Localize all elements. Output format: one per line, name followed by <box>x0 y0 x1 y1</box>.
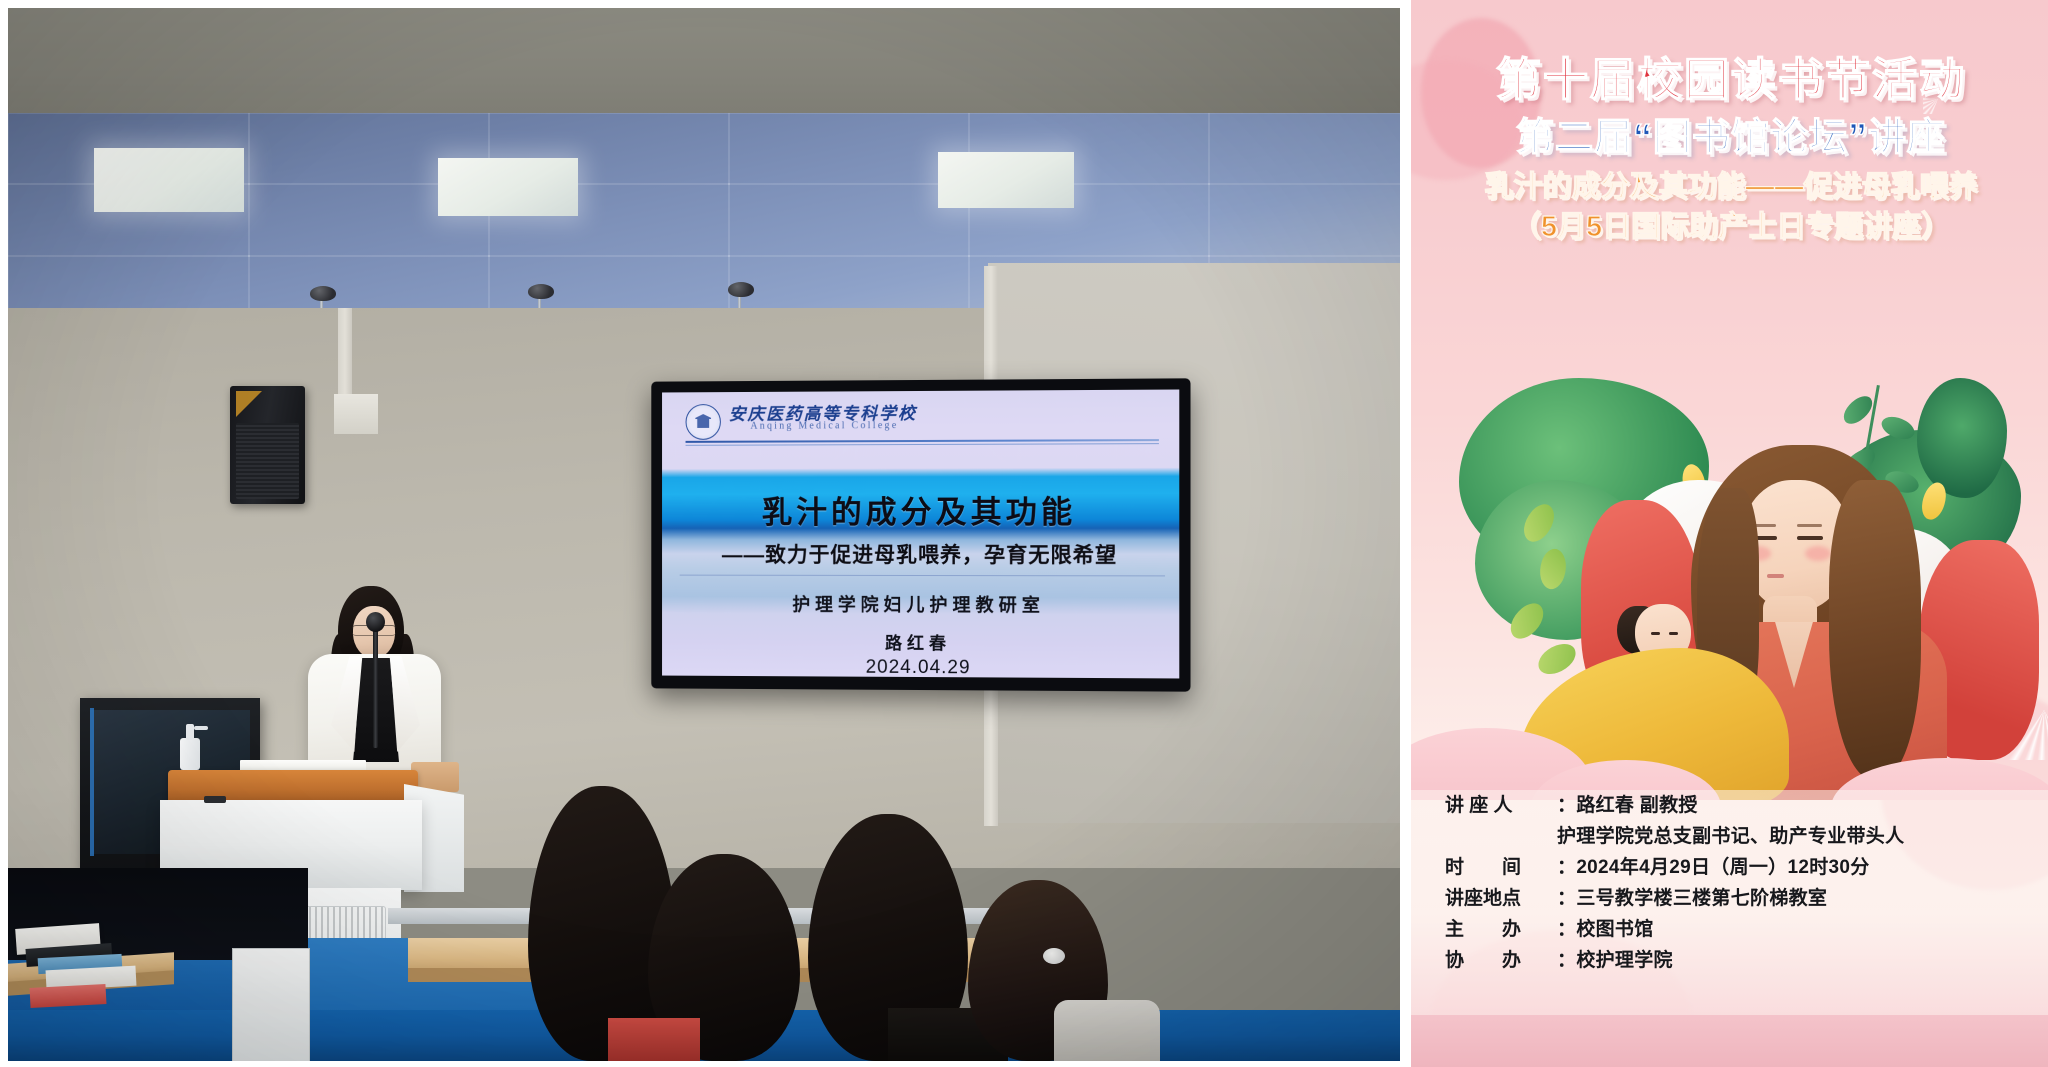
info-row-speaker: 讲 座 人 ： 路红春 副教授 <box>1411 790 2048 817</box>
ceiling-tile <box>1208 113 1400 185</box>
speaker-corner-badge-icon <box>236 391 262 417</box>
info-value: 三号教学楼三楼第七阶梯教室 <box>1576 883 1827 910</box>
info-colon: ： <box>1557 852 1576 879</box>
info-label: 主 办 <box>1445 914 1557 941</box>
sanitizer-pump-icon <box>186 724 194 740</box>
info-row-organizer: 主 办 ： 校图书馆 <box>1411 914 2048 941</box>
green-foliage-shape <box>1917 378 2007 498</box>
info-label: 讲 座 人 <box>1445 790 1557 817</box>
microphone-icon <box>366 612 385 632</box>
info-value: 校护理学院 <box>1576 945 1673 972</box>
ceiling-tile <box>728 183 970 257</box>
screenshot-root: 安庆医药高等专科学校 Anqing Medical College 乳汁的成分及… <box>0 0 2048 1067</box>
presentation-screen: 安庆医药高等专科学校 Anqing Medical College 乳汁的成分及… <box>651 378 1190 691</box>
info-row-venue: 讲座地点 ： 三号教学楼三楼第七阶梯教室 <box>1411 883 2048 910</box>
ceiling-tile <box>1208 183 1400 257</box>
poster-title-line-2: 第二届“图书馆论坛”讲座 <box>1411 118 2048 158</box>
school-crest-icon <box>686 404 721 440</box>
info-colon: ： <box>1557 945 1576 972</box>
slide-title: 乳汁的成分及其功能 <box>662 486 1179 532</box>
poster-illustration <box>1411 360 2048 800</box>
poster-title-block: 第十届校园读书节活动 第二届“图书馆论坛”讲座 乳汁的成分及其功能——促进母乳喂… <box>1411 56 2048 244</box>
poster-info-panel: 讲 座 人 ： 路红春 副教授 护理学院党总支副书记、助产专业带头人 时 间 ：… <box>1411 790 2048 1015</box>
slide-department: 护理学院妇儿护理教研室 <box>662 590 1179 617</box>
baby-eye <box>1669 632 1678 635</box>
ceiling-tile <box>728 113 970 185</box>
microphone-stand <box>373 620 378 748</box>
slide-header-rule-secondary <box>686 443 1159 446</box>
info-colon: ： <box>1557 883 1576 910</box>
info-label: 讲座地点 <box>1445 883 1557 910</box>
info-colon: ： <box>1557 790 1576 817</box>
slide-date: 2024.04.29 <box>662 656 1179 679</box>
white-palm-leaf-icon <box>1943 660 2048 760</box>
sanitizer-nozzle-icon <box>194 726 208 730</box>
hair-tie-icon <box>1043 948 1065 964</box>
rack-edge-accent <box>90 708 94 856</box>
slide-header-rule <box>686 439 1159 443</box>
poster-footer-band <box>1411 1015 2048 1067</box>
poster-title-line-3: 乳汁的成分及其功能——促进母乳喂养 <box>1411 172 2048 204</box>
ceiling-dome-speaker-icon <box>310 286 336 301</box>
book-stack-item <box>30 984 107 1008</box>
info-value: 2024年4月29日（周一）12时30分 <box>1576 852 1869 879</box>
ceiling-surface <box>8 8 1400 118</box>
lecture-hall-photo: 安庆医药高等专科学校 Anqing Medical College 乳汁的成分及… <box>8 8 1400 1061</box>
baby-eye <box>1651 632 1660 635</box>
slide-subtitle: ——致力于促进母乳喂养，孕育无限希望 <box>662 539 1179 569</box>
info-value: 校图书馆 <box>1576 914 1653 941</box>
mother-hair-front <box>1829 480 1921 780</box>
ceiling-dome-speaker-icon <box>528 284 554 299</box>
audience-clothing <box>1054 1000 1160 1061</box>
info-row-co-organizer: 协 办 ： 校护理学院 <box>1411 945 2048 972</box>
mother-cheek-blush <box>1805 546 1831 561</box>
poster-title-line-4: （5月5日国际助产士日专题讲座） <box>1411 212 2048 244</box>
info-row-time: 时 间 ： 2024年4月29日（周一）12时30分 <box>1411 852 2048 879</box>
slide-content: 安庆医药高等专科学校 Anqing Medical College 乳汁的成分及… <box>662 389 1179 678</box>
event-poster: 第十届校园读书节活动 第二届“图书馆论坛”讲座 乳汁的成分及其功能——促进母乳喂… <box>1408 0 2048 1067</box>
info-label: 协 办 <box>1445 945 1557 972</box>
slide-divider <box>680 575 1165 577</box>
ceiling-dome-speaker-icon <box>728 282 754 297</box>
school-name-en: Anqing Medical College <box>750 420 898 432</box>
ceiling-light-panel <box>938 152 1074 208</box>
leaf-icon <box>1534 640 1580 678</box>
podium-control-strip <box>204 796 226 803</box>
side-cabinet <box>232 948 310 1061</box>
mother-eye <box>1797 536 1823 540</box>
speaker-grill <box>236 423 299 499</box>
slide-presenter: 路红春 <box>662 628 1179 655</box>
info-value: 路红春 副教授 <box>1576 790 1697 817</box>
wall-plate <box>334 394 378 434</box>
poster-title-line-1: 第十届校园读书节活动 <box>1411 56 2048 104</box>
mother-mouth <box>1767 574 1784 578</box>
ceiling-light-panel <box>438 158 578 216</box>
info-speaker-subtitle: 护理学院党总支副书记、助产专业带头人 <box>1411 821 2048 848</box>
mother-eyebrow <box>1797 524 1822 527</box>
slide-header: 安庆医药高等专科学校 Anqing Medical College <box>686 398 1155 444</box>
ceiling-light-panel <box>94 148 244 212</box>
audience-clothing <box>608 1018 700 1061</box>
info-colon: ： <box>1557 914 1576 941</box>
info-label: 时 间 <box>1445 852 1557 879</box>
hand-sanitizer-bottle <box>180 738 200 770</box>
